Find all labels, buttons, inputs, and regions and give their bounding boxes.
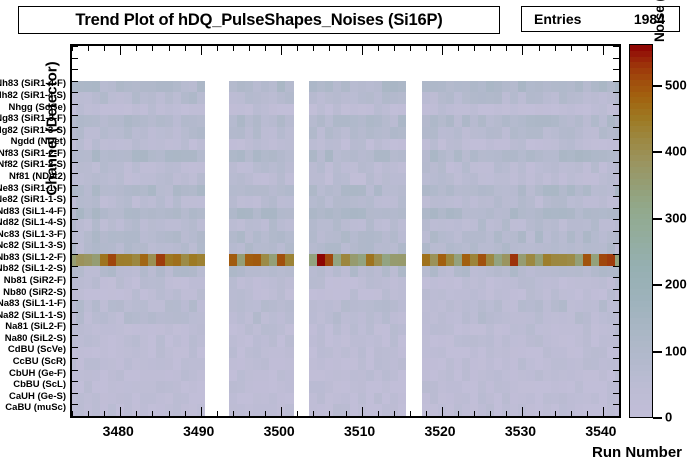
- x-axis-tick: [571, 411, 572, 416]
- y-axis-tick: [613, 312, 619, 313]
- x-axis-tick: [394, 46, 395, 51]
- heatmap-cell: [398, 208, 407, 220]
- heatmap-cell: [285, 162, 294, 174]
- y-axis-tick: [613, 104, 619, 105]
- x-axis-tick-label: 3520: [424, 423, 455, 439]
- y-axis-tick: [613, 289, 619, 290]
- x-axis-tick: [169, 411, 170, 416]
- heatmap-cell: [398, 127, 407, 139]
- entries-label: Entries: [534, 11, 581, 27]
- x-axis-tick: [201, 407, 202, 416]
- y-axis-tick: [613, 219, 619, 220]
- y-axis-tick-label: Nc83 (SiL1-3-F): [0, 230, 66, 240]
- heatmap-cell: [398, 324, 407, 336]
- y-axis-tick-label: Na82 (SiL1-1-S): [0, 311, 66, 321]
- y-axis-tick: [613, 324, 619, 325]
- y-axis-tick: [72, 335, 78, 336]
- x-axis-tick: [522, 407, 523, 416]
- heatmap-cell: [285, 370, 294, 382]
- heatmap-cell: [197, 312, 206, 324]
- y-axis-tick: [72, 289, 78, 290]
- heatmap-cell: [398, 92, 407, 104]
- y-axis-tick: [72, 393, 78, 394]
- heatmap-cell: [197, 127, 206, 139]
- y-axis-tick-label: Nh82 (SiR1-4-S): [0, 91, 66, 101]
- y-axis-tick: [613, 254, 619, 255]
- heatmap-cell: [398, 81, 407, 93]
- heatmap-cell: [197, 254, 206, 266]
- heatmap-cell: [285, 231, 294, 243]
- heatmap-cell: [285, 104, 294, 116]
- heatmap-cell: [398, 150, 407, 162]
- x-axis-tick: [362, 407, 363, 416]
- heatmap-cell: [285, 81, 294, 93]
- y-axis-tick-label: Na81 (SiL2-F): [5, 322, 66, 332]
- x-axis-tick: [426, 411, 427, 416]
- colorbar-tick: [653, 218, 662, 220]
- y-axis-tick: [72, 150, 78, 151]
- colorbar-tick-label: 200: [665, 277, 687, 292]
- y-axis-tick: [72, 173, 78, 174]
- heatmap-cell: [197, 139, 206, 151]
- colorbar-tick: [653, 351, 662, 353]
- y-axis-tick: [613, 393, 619, 394]
- heatmap-cell: [197, 358, 206, 370]
- y-axis-tick: [72, 139, 78, 140]
- heatmap-cell: [285, 208, 294, 220]
- heatmap-cell: [285, 312, 294, 324]
- heatmap-cell: [615, 277, 619, 289]
- x-axis-tick: [362, 46, 363, 55]
- heatmap-cell: [285, 393, 294, 405]
- x-axis-tick: [555, 411, 556, 416]
- y-axis-tick: [613, 127, 619, 128]
- y-axis-tick: [613, 370, 619, 371]
- x-axis-tick: [217, 411, 218, 416]
- x-axis-tick: [217, 46, 218, 51]
- y-axis-tick: [613, 347, 619, 348]
- y-axis-tick: [72, 208, 78, 209]
- x-axis-tick: [88, 411, 89, 416]
- x-axis-tick: [329, 46, 330, 51]
- y-axis-tick: [72, 300, 78, 301]
- heatmap-cell: [615, 139, 619, 151]
- heatmap-cell: [398, 243, 407, 255]
- x-axis-tick: [297, 411, 298, 416]
- y-axis-tick: [613, 139, 619, 140]
- heatmap-cell: [197, 173, 206, 185]
- y-axis-tick: [613, 404, 619, 405]
- x-axis-tick-label: 3540: [585, 423, 616, 439]
- y-axis-tick-label: Nf82 (SiR1-2-S): [0, 160, 66, 170]
- heatmap-cell: [615, 358, 619, 370]
- heatmap-cell: [197, 277, 206, 289]
- y-axis-tick-label: Ne83 (SiR1-1-F): [0, 184, 66, 194]
- heatmap-cell: [398, 393, 407, 405]
- x-axis-tick: [265, 46, 266, 51]
- x-axis-tick: [281, 407, 282, 416]
- y-axis-tick: [72, 404, 78, 405]
- heatmap-cell: [398, 381, 407, 393]
- x-axis-tick: [233, 411, 234, 416]
- heatmap-cell: [197, 381, 206, 393]
- heatmap-cell: [197, 185, 206, 197]
- heatmap-cell: [285, 324, 294, 336]
- heatmap-cell: [398, 173, 407, 185]
- y-axis-tick: [72, 312, 78, 313]
- x-axis-title: Run Number: [592, 444, 682, 461]
- x-axis-tick: [555, 46, 556, 51]
- colorbar-title: Noise (FWHM) [ADC]: [652, 0, 667, 42]
- y-axis-tick-label: CdBU (ScVe): [8, 345, 66, 355]
- heatmap-cell: [197, 370, 206, 382]
- y-axis-tick: [72, 381, 78, 382]
- heatmap-cell: [615, 347, 619, 359]
- colorbar-tick: [653, 85, 662, 87]
- heatmap-cell: [615, 381, 619, 393]
- x-axis-tick: [587, 411, 588, 416]
- y-axis-tick-label: Nb81 (SiR2-F): [4, 276, 66, 286]
- heatmap-cell: [615, 208, 619, 220]
- colorbar-axis: 0100200300400500: [653, 44, 695, 418]
- x-axis-tick: [587, 46, 588, 51]
- x-axis-tick: [249, 411, 250, 416]
- heatmap-cell: [197, 162, 206, 174]
- y-axis-tick: [613, 277, 619, 278]
- heatmap-cell: [285, 335, 294, 347]
- y-axis-tick: [613, 358, 619, 359]
- y-axis-tick: [72, 370, 78, 371]
- x-axis-tick: [346, 411, 347, 416]
- heatmap-cell: [285, 150, 294, 162]
- heatmap-cell: [615, 150, 619, 162]
- heatmap-cell: [398, 104, 407, 116]
- y-axis-tick: [72, 185, 78, 186]
- y-axis-tick: [613, 381, 619, 382]
- colorbar-tick: [653, 284, 662, 286]
- y-axis-tick-label: CbBU (ScL): [13, 380, 66, 390]
- heatmap-cell: [285, 347, 294, 359]
- heatmap-cell: [398, 347, 407, 359]
- x-axis-tick-label: 3480: [103, 423, 134, 439]
- heatmap-cell: [615, 92, 619, 104]
- heatmap-cell: [398, 115, 407, 127]
- y-axis-tick-label: CcBU (ScR): [13, 357, 66, 367]
- heatmap-cell: [285, 92, 294, 104]
- x-axis-tick: [603, 407, 604, 416]
- heatmap-cell: [398, 231, 407, 243]
- colorbar-tick-label: 0: [665, 410, 672, 425]
- x-axis-tick: [522, 46, 523, 55]
- heatmap-cell: [398, 196, 407, 208]
- colorbar-tick-label: 300: [665, 210, 687, 225]
- heatmap-cell: [197, 266, 206, 278]
- y-axis-tick: [72, 347, 78, 348]
- x-axis-tick-label: 3500: [264, 423, 295, 439]
- y-axis-tick-label: CaUH (Ge-S): [9, 392, 66, 402]
- y-axis-tick: [72, 115, 78, 116]
- x-axis-tick: [136, 411, 137, 416]
- heatmap-cell: [615, 254, 619, 266]
- heatmap-cell: [615, 173, 619, 185]
- y-axis-tick-label: Nd82 (SiL1-4-S): [0, 218, 66, 228]
- x-axis-tick: [185, 46, 186, 51]
- heatmap-canvas[interactable]: [72, 46, 619, 416]
- y-axis-tick-label: CbUH (Ge-F): [9, 369, 66, 379]
- colorbar-tick-label: 400: [665, 144, 687, 159]
- y-axis-tick: [72, 127, 78, 128]
- y-axis-tick: [72, 277, 78, 278]
- heatmap-cell: [197, 300, 206, 312]
- x-axis-tick: [265, 411, 266, 416]
- x-axis-tick: [120, 407, 121, 416]
- x-axis-tick-label: 3510: [344, 423, 375, 439]
- y-axis-tick: [72, 243, 78, 244]
- heatmap-cell: [197, 81, 206, 93]
- heatmap-cell: [398, 219, 407, 231]
- x-axis-tick: [72, 411, 73, 416]
- x-axis-tick: [539, 411, 540, 416]
- y-axis-tick: [613, 81, 619, 82]
- colorbar: [629, 44, 653, 418]
- y-axis-tick: [72, 81, 78, 82]
- heatmap-cell: [197, 115, 206, 127]
- y-axis-tick-label: Nc82 (SiL1-3-S): [0, 241, 66, 251]
- heatmap-cell: [398, 277, 407, 289]
- y-axis-tick: [72, 254, 78, 255]
- heatmap-cell: [398, 404, 407, 416]
- y-axis-tick: [72, 162, 78, 163]
- y-axis-tick: [613, 115, 619, 116]
- x-axis-tick: [378, 411, 379, 416]
- heatmap-cell: [615, 243, 619, 255]
- heatmap-cell: [197, 324, 206, 336]
- x-axis-tick: [410, 46, 411, 51]
- y-axis-tick: [613, 92, 619, 93]
- heatmap-cell: [197, 347, 206, 359]
- x-axis-tick: [313, 46, 314, 51]
- x-axis-tick: [104, 411, 105, 416]
- y-axis-tick-label: Na80 (SiL2-S): [5, 334, 66, 344]
- x-axis-tick: [72, 46, 73, 51]
- heatmap-cell: [285, 196, 294, 208]
- x-axis-tick: [329, 411, 330, 416]
- x-axis-tick: [410, 411, 411, 416]
- heatmap-cell: [285, 358, 294, 370]
- heatmap-cell: [285, 127, 294, 139]
- y-axis-tick-label: Ngdd (NDet): [11, 137, 66, 147]
- heatmap-cell: [285, 277, 294, 289]
- y-axis-tick: [72, 58, 78, 59]
- x-axis-tick: [297, 46, 298, 51]
- x-axis-labels: 3480349035003510352035303540: [70, 421, 621, 441]
- y-axis-tick: [613, 266, 619, 267]
- heatmap-cell: [615, 370, 619, 382]
- x-axis-tick: [474, 411, 475, 416]
- heatmap-cell: [615, 196, 619, 208]
- x-axis-tick: [201, 46, 202, 55]
- x-axis-tick: [426, 46, 427, 51]
- y-axis-tick: [613, 173, 619, 174]
- heatmap-cell: [197, 231, 206, 243]
- x-axis-tick: [506, 411, 507, 416]
- heatmap-cell: [615, 104, 619, 116]
- x-axis-tick: [539, 46, 540, 51]
- colorbar-tick-label: 500: [665, 77, 687, 92]
- x-axis-tick: [281, 46, 282, 55]
- heatmap-cell: [197, 208, 206, 220]
- x-axis-tick: [506, 46, 507, 51]
- heatmap-cell: [615, 324, 619, 336]
- x-axis-tick: [603, 46, 604, 55]
- heatmap-cell: [398, 370, 407, 382]
- x-axis-tick: [313, 411, 314, 416]
- x-axis-tick: [378, 46, 379, 51]
- x-axis-tick: [458, 411, 459, 416]
- heatmap-cell: [197, 393, 206, 405]
- x-axis-tick: [442, 407, 443, 416]
- colorbar-segment: [630, 411, 652, 417]
- heatmap-cell: [398, 254, 407, 266]
- x-axis-tick: [458, 46, 459, 51]
- heatmap-cell: [615, 115, 619, 127]
- heatmap-cell: [615, 335, 619, 347]
- heatmap-cell: [197, 243, 206, 255]
- heatmap-cell: [197, 289, 206, 301]
- heatmap-cell: [615, 266, 619, 278]
- heatmap-cell: [285, 266, 294, 278]
- y-axis-tick-label: Ng82 (SiR1-3-S): [0, 126, 66, 136]
- heatmap-cell: [197, 104, 206, 116]
- x-axis-tick: [249, 46, 250, 51]
- x-axis-tick: [88, 46, 89, 51]
- x-axis-tick: [394, 411, 395, 416]
- page-title: Trend Plot of hDQ_PulseShapes_Noises (Si…: [18, 6, 500, 34]
- heatmap-cell: [398, 185, 407, 197]
- y-axis-tick: [72, 231, 78, 232]
- y-axis-tick: [72, 358, 78, 359]
- x-axis-tick: [169, 46, 170, 51]
- x-axis-tick-label: 3530: [505, 423, 536, 439]
- heatmap-cell: [197, 335, 206, 347]
- y-axis-tick: [613, 231, 619, 232]
- heatmap-cell: [398, 300, 407, 312]
- y-axis-tick: [72, 92, 78, 93]
- y-axis-tick: [613, 58, 619, 59]
- colorbar-tick-label: 100: [665, 343, 687, 358]
- x-axis-tick: [152, 411, 153, 416]
- x-axis-tick: [185, 411, 186, 416]
- heatmap-cell: [615, 81, 619, 93]
- heatmap-cell: [285, 185, 294, 197]
- heatmap-cell: [615, 289, 619, 301]
- y-axis-tick-label: Nd83 (SiL1-4-F): [0, 207, 66, 217]
- x-axis-tick-label: 3490: [183, 423, 214, 439]
- x-axis-tick: [442, 46, 443, 55]
- x-axis-tick: [490, 46, 491, 51]
- heatmap-cell: [398, 358, 407, 370]
- y-axis-tick: [613, 196, 619, 197]
- y-axis-tick: [613, 69, 619, 70]
- y-axis-tick-label: Ng83 (SiR1-3-F): [0, 114, 66, 124]
- colorbar-tick: [653, 417, 662, 419]
- heatmap-cell: [398, 335, 407, 347]
- y-axis-tick: [613, 150, 619, 151]
- x-axis-tick: [346, 46, 347, 51]
- y-axis-tick-label: CaBU (muSc): [5, 403, 66, 413]
- heatmap-cell: [615, 219, 619, 231]
- y-axis-tick: [72, 196, 78, 197]
- heatmap-cell: [615, 300, 619, 312]
- y-axis-tick-label: Nh83 (SiR1-4-F): [0, 79, 66, 89]
- heatmap-cell: [285, 139, 294, 151]
- heatmap-cell: [615, 162, 619, 174]
- heatmap-cell: [285, 115, 294, 127]
- x-axis-tick: [120, 46, 121, 55]
- heatmap-cell: [615, 185, 619, 197]
- x-axis-tick: [152, 46, 153, 51]
- heatmap-cell: [615, 312, 619, 324]
- x-axis-tick: [104, 46, 105, 51]
- y-axis-tick: [613, 243, 619, 244]
- plot-title-text: Trend Plot of hDQ_PulseShapes_Noises (Si…: [75, 11, 442, 30]
- y-axis-tick: [613, 162, 619, 163]
- y-axis-tick-label: Na83 (SiL1-1-F): [0, 299, 66, 309]
- heatmap-cell: [615, 231, 619, 243]
- y-axis-tick: [72, 324, 78, 325]
- y-axis-tick: [72, 266, 78, 267]
- heatmap-cell: [197, 92, 206, 104]
- heatmap-cell: [398, 289, 407, 301]
- y-axis-tick: [72, 219, 78, 220]
- y-axis-tick: [613, 300, 619, 301]
- x-axis-tick: [474, 46, 475, 51]
- heatmap-cell: [615, 127, 619, 139]
- heatmap-cell: [615, 393, 619, 405]
- heatmap-cell: [285, 243, 294, 255]
- colorbar-tick: [653, 151, 662, 153]
- y-axis-tick: [72, 104, 78, 105]
- y-axis-tick-label: Nb80 (SiR2-S): [3, 288, 66, 298]
- y-axis-tick: [72, 69, 78, 70]
- heatmap-cell: [285, 254, 294, 266]
- heatmap-cell: [197, 196, 206, 208]
- y-axis-tick: [613, 208, 619, 209]
- y-axis-tick-label: Nf81 (NDet2): [9, 172, 66, 182]
- heatmap-cell: [398, 139, 407, 151]
- heatmap-cell: [398, 162, 407, 174]
- heatmap-cell: [285, 219, 294, 231]
- y-axis-tick-label: Ne82 (SiR1-1-S): [0, 195, 66, 205]
- heatmap-cell: [398, 312, 407, 324]
- heatmap-cell: [285, 173, 294, 185]
- x-axis-tick: [490, 411, 491, 416]
- heatmap-cell: [398, 266, 407, 278]
- y-axis-tick-label: Nf83 (SiR1-2-F): [0, 149, 66, 159]
- x-axis-tick: [136, 46, 137, 51]
- heatmap-cell: [285, 381, 294, 393]
- heatmap-cell: [285, 289, 294, 301]
- heatmap-cell: [285, 300, 294, 312]
- x-axis-tick: [233, 46, 234, 51]
- y-axis-tick-label: Nb83 (SiL1-2-F): [0, 253, 66, 263]
- heatmap-cell: [197, 219, 206, 231]
- heatmap-cell: [197, 150, 206, 162]
- plot-frame: [70, 44, 621, 418]
- x-axis-tick: [571, 46, 572, 51]
- y-axis-tick-label: Nb82 (SiL1-2-S): [0, 264, 66, 274]
- y-axis-labels: Nh83 (SiR1-4-F)Nh82 (SiR1-4-S)Nhgg (ScGe…: [0, 44, 70, 418]
